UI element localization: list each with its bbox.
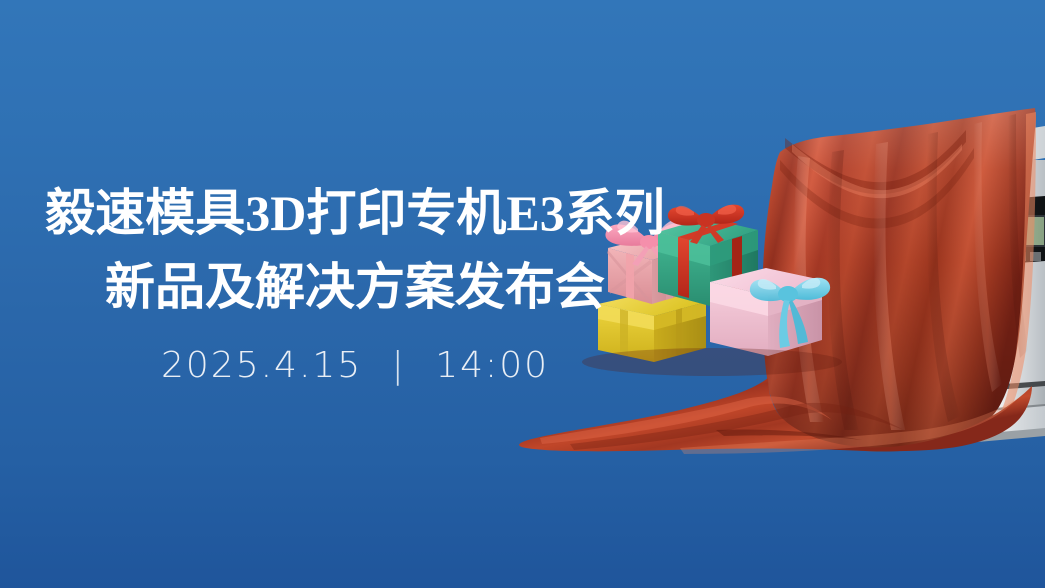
event-time: 14:00 — [435, 345, 549, 386]
page-title: 毅速模具3D打印专机E3系列 新品及解决方案发布会 — [0, 176, 710, 324]
gift-box-pink-right — [710, 268, 830, 356]
event-date: 2025.4.15 — [161, 345, 362, 386]
event-poster: 毅速模具3D打印专机E3系列 新品及解决方案发布会 2025.4.15 | 14… — [0, 0, 1045, 588]
event-datetime: 2025.4.15 | 14:00 — [0, 345, 710, 386]
datetime-separator: | — [392, 345, 406, 386]
headline-line-2: 新品及解决方案发布会 — [0, 250, 710, 324]
headline-line-1: 毅速模具3D打印专机E3系列 — [0, 176, 710, 250]
